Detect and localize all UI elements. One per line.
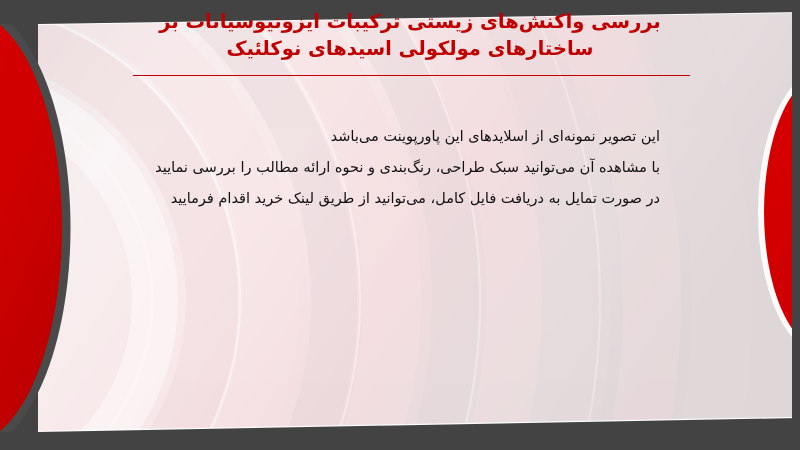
presentation-slide: بررسی واکنش‌های زیستی ترکیبات ایزوتیوسیا… — [0, 0, 800, 450]
slide-body: این تصویر نمونه‌ای از اسلایدهای این پاور… — [100, 122, 660, 215]
body-line-1: این تصویر نمونه‌ای از اسلایدهای این پاور… — [100, 122, 660, 153]
title-underline — [133, 75, 690, 76]
title-line-1: بررسی واکنش‌های زیستی ترکیبات ایزوتیوسیا… — [110, 8, 710, 35]
title-line-2: ساختارهای مولکولی اسیدهای نوکلئیک — [110, 35, 710, 62]
slide-content: بررسی واکنش‌های زیستی ترکیبات ایزوتیوسیا… — [0, 0, 800, 450]
body-line-2: با مشاهده آن می‌توانید سبک طراحی، رنگ‌بن… — [100, 153, 660, 184]
body-line-3: در صورت تمایل به دریافت فایل کامل، می‌تو… — [100, 184, 660, 215]
slide-title: بررسی واکنش‌های زیستی ترکیبات ایزوتیوسیا… — [110, 8, 710, 62]
